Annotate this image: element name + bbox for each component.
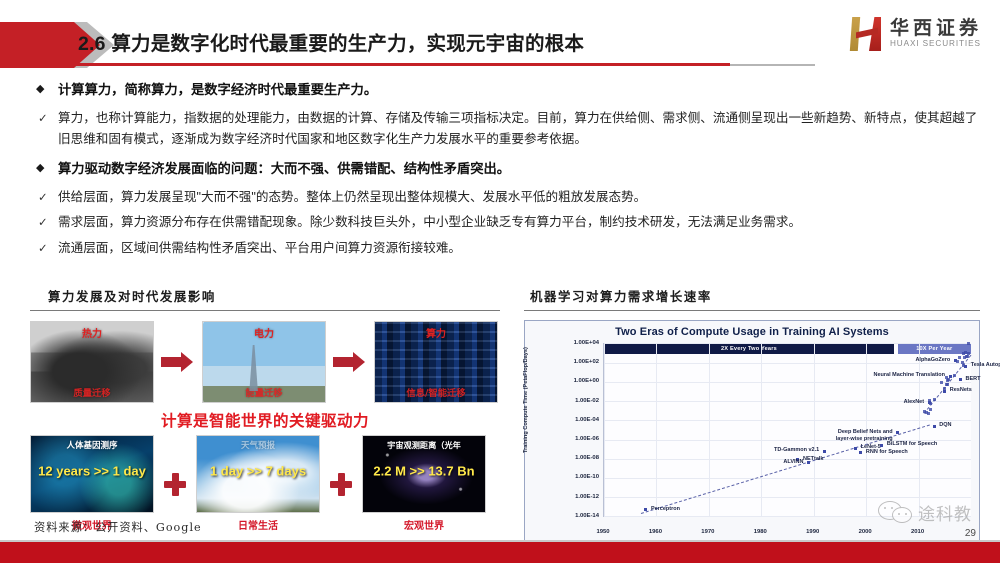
thumb-caption-below: 日常生活 <box>196 517 320 532</box>
chart-gridline <box>604 343 971 344</box>
chart-data-point <box>946 379 949 382</box>
chart-data-point <box>896 431 899 434</box>
page-number: 29 <box>965 528 976 539</box>
chart-data-point <box>933 425 936 428</box>
bullet-item: ✓ 需求层面，算力资源分布存在供需错配现象。除少数科技巨头外，中小型企业缺乏专有… <box>28 212 980 234</box>
chart-data-point <box>961 361 964 364</box>
chart-title: Two Eras of Compute Usage in Training AI… <box>525 326 979 338</box>
chart-data-point <box>953 374 956 377</box>
scale-image-row: 人体基因测序 12 years >> 1 day 微观世界 天气预报 1 day… <box>30 435 500 532</box>
chart-y-tick: 1.00E+04 <box>539 340 599 346</box>
chart-x-tick: 1970 <box>701 529 714 535</box>
chart-gridline <box>604 382 971 383</box>
chart-data-point <box>967 342 970 345</box>
thumb-caption-top: 电力 <box>203 325 325 340</box>
chart-data-point <box>929 408 932 411</box>
left-panel-divider <box>30 310 500 311</box>
source-note: 资料来源：公开资料、Google <box>34 519 202 535</box>
thumb-caption-top: 算力 <box>375 325 497 340</box>
chart-data-point <box>859 451 862 454</box>
check-bullet-icon: ✓ <box>28 187 58 209</box>
thumb-overlay-text: 2.2 M >> 13.7 Bn <box>363 464 485 479</box>
bullet-text: 流通层面，区域间供需结构性矛盾突出、平台用户间算力资源衔接较难。 <box>58 238 980 260</box>
chart-data-point <box>644 508 647 511</box>
thumb-caption-bottom: 能量迁移 <box>203 385 325 399</box>
chart-data-point <box>963 356 966 359</box>
thumb-caption-top: 热力 <box>31 325 153 340</box>
header-rule-gray <box>730 64 815 66</box>
thumb-steam-train: 热力 质量迁移 <box>30 321 154 403</box>
chart-gridline <box>604 478 971 479</box>
chart-data-point <box>880 444 883 447</box>
chart-gridline <box>604 497 971 498</box>
chart-era-bar-1: 2X Every Two Years <box>604 343 894 354</box>
footer-red-bar <box>0 542 1000 563</box>
chart-point-label: ALVINN <box>783 459 803 466</box>
chart-data-point <box>923 410 926 413</box>
chart-point-label: Tesla Autopilot <box>971 362 1000 369</box>
bullet-item: ✓ 算力，也称计算能力，指数据的处理能力，由数据的计算、存储及传输三项指标决定。… <box>28 108 980 151</box>
chart-point-label: Deep Belief Nets andlayer-wise pretraini… <box>836 429 893 443</box>
chart-gridline <box>709 343 710 516</box>
chart-y-tick: 1.00E-06 <box>539 436 599 442</box>
huaxi-logo-icon <box>851 17 881 51</box>
right-panel-title: 机器学习对算力需求增长速率 <box>524 287 980 305</box>
right-panel-divider <box>524 310 980 311</box>
chart-gridline <box>604 343 605 516</box>
thumb-overlay-text: 1 day >> 7 days <box>197 464 319 479</box>
chart-x-tick: 2010 <box>911 529 924 535</box>
chart-point-label: Neural Machine Translation <box>874 372 946 379</box>
chart-point-label: AlphaGoZero <box>915 357 950 364</box>
chart-x-tick: 1950 <box>596 529 609 535</box>
chart-data-point <box>933 398 936 401</box>
check-bullet-icon: ✓ <box>28 212 58 234</box>
chart-x-tick: 1960 <box>649 529 662 535</box>
arrow-right-icon <box>161 352 195 372</box>
thumb-caption-top: 天气预报 <box>197 439 319 451</box>
chart-point-label: BiLSTM for Speech <box>887 441 937 448</box>
chart-point-label: DQN <box>939 422 951 429</box>
chart-gridline <box>656 343 657 516</box>
chart-data-point <box>956 360 959 363</box>
left-panel-title: 算力发展及对时代发展影响 <box>30 287 500 305</box>
chart-data-point <box>943 387 946 390</box>
thumb-data-center: 算力 信息/智能迁移 <box>374 321 498 403</box>
bullet-text: 供给层面，算力发展呈现"大而不强"的态势。整体上仍然呈现出整体规模大、发展水平低… <box>58 187 980 209</box>
diamond-bullet-icon: ◆ <box>28 159 58 177</box>
page-title: 2.6 算力是数字化时代最重要的生产力，实现元宇宙的根本 <box>78 27 584 56</box>
chart-x-tick: 1980 <box>754 529 767 535</box>
arrow-right-icon <box>333 352 367 372</box>
chart-point-label: AlexNet <box>904 399 924 406</box>
chart-plot-area: 2X Every Two Years 10X Per Year Perceptr… <box>603 343 971 517</box>
thumb-caption-bottom: 质量迁移 <box>31 385 153 399</box>
watermark-text: 途科教 <box>918 500 972 525</box>
thumb-weather-sky: 天气预报 1 day >> 7 days <box>196 435 320 513</box>
chart-y-tick: 1.00E-12 <box>539 494 599 500</box>
bullet-item: ◆ 计算算力，简称算力，是数字经济时代最重要生产力。 <box>28 80 980 101</box>
bullet-text: 算力，也称计算能力，指数据的处理能力，由数据的计算、存储及传输三项指标决定。目前… <box>58 108 980 151</box>
chart-gridline <box>814 343 815 516</box>
chart-gridline <box>604 420 971 421</box>
era-image-row: 热力 质量迁移 电力 能量迁移 算力 信息/智能迁移 <box>30 321 500 403</box>
chart-point-label: RNN for Speech <box>866 449 908 456</box>
thumb-genome-sequencing: 人体基因测序 12 years >> 1 day <box>30 435 154 513</box>
chart-y-tick: 1.00E-02 <box>539 398 599 404</box>
thumb-caption-below: 宏观世界 <box>362 517 486 532</box>
chart-data-point <box>958 356 961 359</box>
chart-point-label: TD-Gammon v2.1 <box>774 447 819 454</box>
bullet-text: 计算算力，简称算力，是数字经济时代最重要生产力。 <box>58 80 980 101</box>
plus-icon <box>160 471 190 497</box>
header-rule-red <box>50 63 730 66</box>
left-figure-panel: 算力发展及对时代发展影响 热力 质量迁移 电力 能量迁移 算力 信息/智能迁移 … <box>30 287 500 532</box>
chart-y-axis-label: Training Compute Time (PetaFlop/Days) <box>523 348 529 454</box>
chart-data-point <box>945 376 948 379</box>
chart-x-tick: 1990 <box>806 529 819 535</box>
chart-data-point <box>854 447 857 450</box>
chart-x-tick: 2000 <box>859 529 872 535</box>
check-bullet-icon: ✓ <box>28 108 58 130</box>
chart-data-point <box>959 378 962 381</box>
chart-point-label: Perceptron <box>651 506 680 513</box>
watermark: 途科教 <box>878 499 972 525</box>
chart-y-tick: 1.00E-04 <box>539 417 599 423</box>
check-bullet-icon: ✓ <box>28 238 58 260</box>
chart-point-label: ResNets <box>950 387 972 394</box>
chart-data-point <box>928 399 931 402</box>
brand-logo: 华西证券 HUAXI SECURITIES <box>851 14 982 54</box>
wechat-icon <box>878 499 914 525</box>
chart-data-point <box>940 381 943 384</box>
bullet-text: 需求层面，算力资源分布存在供需错配现象。除少数科技巨头外，中小型企业缺乏专有算力… <box>58 212 980 234</box>
slide-root: 2.6 算力是数字化时代最重要的生产力，实现元宇宙的根本 华西证券 HUAXI … <box>0 0 1000 563</box>
bullet-list: ◆ 计算算力，简称算力，是数字经济时代最重要生产力。 ✓ 算力，也称计算能力，指… <box>28 80 980 264</box>
bullet-item: ✓ 流通层面，区域间供需结构性矛盾突出、平台用户间算力资源衔接较难。 <box>28 238 980 260</box>
logo-name-cn: 华西证券 <box>890 19 982 38</box>
chart-y-tick: 1.00E+00 <box>539 378 599 384</box>
diamond-bullet-icon: ◆ <box>28 80 58 98</box>
plus-icon <box>326 471 356 497</box>
chart-data-point <box>823 450 826 453</box>
bullet-text: 算力驱动数字经济发展面临的问题：大而不强、供需错配、结构性矛盾突出。 <box>58 159 980 180</box>
chart-gridline <box>919 343 920 516</box>
chart-y-tick: 1.00E-08 <box>539 455 599 461</box>
chart-y-tick: 1.00E-10 <box>539 474 599 480</box>
thumb-caption-top: 宇宙观测距离（光年 <box>363 439 485 451</box>
thumb-overlay-text: 12 years >> 1 day <box>31 464 153 479</box>
left-panel-tagline: 计算是智能世界的关键驱动力 <box>30 409 500 431</box>
thumb-galaxy: 宇宙观测距离（光年 2.2 M >> 13.7 Bn <box>362 435 486 513</box>
logo-name-en: HUAXI SECURITIES <box>890 40 982 48</box>
thumb-power-grid: 电力 能量迁移 <box>202 321 326 403</box>
thumb-caption-bottom: 信息/智能迁移 <box>375 385 497 399</box>
chart-data-point <box>966 355 969 358</box>
chart-data-point <box>945 383 948 386</box>
chart-data-point <box>807 461 810 464</box>
thumb-caption-top: 人体基因测序 <box>31 439 153 451</box>
chart-data-point <box>949 375 952 378</box>
chart-y-tick: 1.00E-14 <box>539 513 599 519</box>
chart-data-point <box>962 364 965 367</box>
chart-y-tick: 1.00E+02 <box>539 359 599 365</box>
chart-era-bar-2: 10X Per Year <box>898 343 971 354</box>
chart-point-label: BERT <box>966 376 981 383</box>
bullet-item: ◆ 算力驱动数字经济发展面临的问题：大而不强、供需错配、结构性矛盾突出。 <box>28 159 980 180</box>
chart-gridline <box>761 343 762 516</box>
chart-data-point <box>967 352 970 355</box>
bullet-item: ✓ 供给层面，算力发展呈现"大而不强"的态势。整体上仍然呈现出整体规模大、发展水… <box>28 187 980 209</box>
